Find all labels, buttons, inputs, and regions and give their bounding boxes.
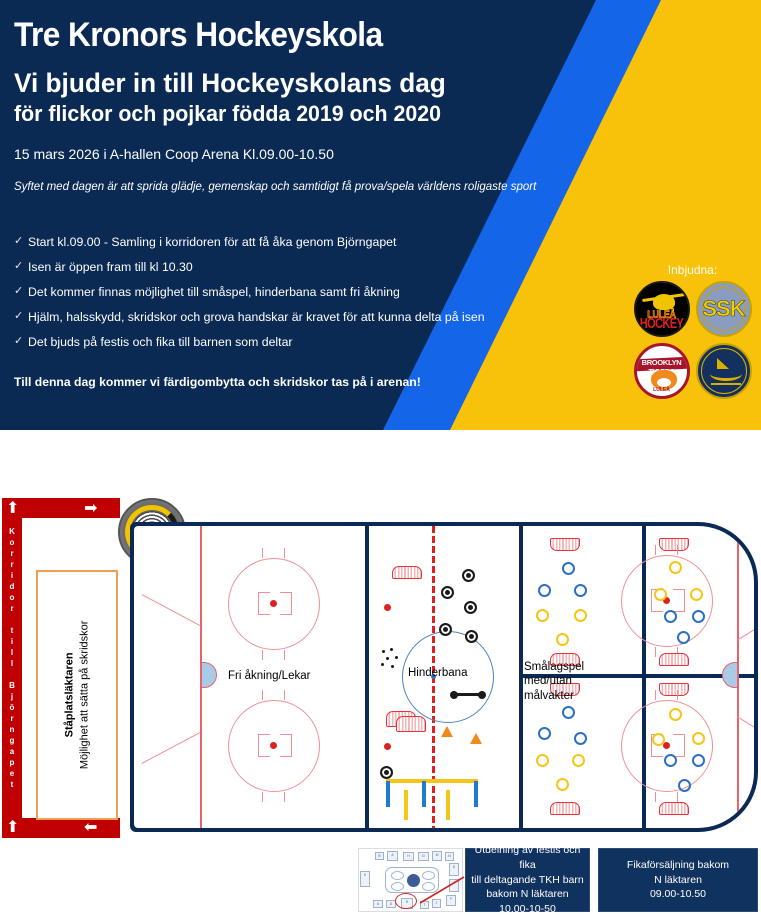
zone-label-smalagspel: Smålagspel med/utan målvakter — [524, 660, 584, 703]
hockey-net-icon — [659, 802, 689, 815]
player-marker — [572, 754, 585, 767]
ice-surface: Fri åkning/Lekar Hinderbana — [134, 526, 754, 828]
page-title: Tre Kronors Hockeyskola — [14, 18, 572, 52]
map-highlight-circle — [395, 893, 417, 909]
check-icon: ✓ — [14, 335, 28, 348]
map-section: N — [445, 852, 454, 861]
header-subtitle-1: Vi bjuder in till Hockeyskolans dag — [14, 69, 596, 99]
faceoff-hash — [258, 734, 270, 735]
player-marker — [574, 732, 587, 745]
info-line: Fikaförsäljning bakom — [627, 858, 729, 873]
map-section: A — [373, 900, 383, 908]
cone-icon — [441, 726, 453, 737]
hockey-net-icon — [550, 802, 580, 815]
player-marker — [692, 754, 705, 767]
faceoff-dot — [270, 742, 277, 749]
tigers-word-bottom: LULEÅ — [637, 387, 687, 393]
tiger-snout-icon — [657, 378, 671, 387]
player-marker — [538, 584, 551, 597]
player-marker — [562, 706, 575, 719]
faceoff-hash — [655, 545, 656, 555]
skate-area-subtitle: Möjlighet att sätta på skridskor — [77, 621, 92, 770]
check-icon: ✓ — [14, 260, 28, 273]
lulea-hockey-word-bottom: HOCKEY — [636, 316, 688, 332]
faceoff-hash — [284, 792, 285, 802]
faceoff-hash — [284, 650, 285, 660]
hurdle-leg-icon — [474, 781, 478, 807]
corridor-frame: Korridor till Björngapet ⬆ ➡ ⬆ ⬅ Ståplat… — [2, 498, 120, 838]
info-box-festis: Utdelning av festis och fika till deltag… — [465, 848, 590, 912]
map-section: B — [375, 852, 384, 860]
hockey-net-icon — [392, 566, 422, 579]
header-subtitle-2: för flickor och pojkar födda 2019 och 20… — [14, 101, 596, 126]
player-marker — [664, 754, 677, 767]
brooklyn-tigers-logo: BROOKLYN TIGERS LULEÅ — [634, 343, 690, 399]
list-item: ✓ Isen är öppen fram till kl 10.30 — [14, 260, 604, 274]
player-marker — [678, 779, 691, 792]
info-line: Utdelning av festis och fika — [466, 843, 589, 873]
info-line: bakom N läktaren — [466, 887, 589, 902]
faceoff-hash — [262, 650, 263, 660]
list-item-label: Det bjuds på festis och fika till barnen… — [28, 335, 293, 349]
list-item: ✓ Hjälm, halsskydd, skridskor och grova … — [14, 310, 604, 324]
header-banner: Tre Kronors Hockeyskola Vi bjuder in til… — [0, 0, 761, 430]
logo-grid: LULEÅ HOCKEY SSK BROOKLYN TIGERS LULEÅ — [630, 281, 755, 399]
tire-icon — [439, 623, 452, 636]
logo-base-icon — [711, 383, 741, 388]
check-icon: ✓ — [14, 310, 28, 323]
zone-divider — [365, 526, 369, 828]
player-marker — [690, 588, 703, 601]
zone-label-hinderbana: Hinderbana — [408, 666, 467, 680]
hockey-net-icon — [396, 716, 426, 732]
puck-scatter-dot — [386, 657, 389, 660]
hurdle-bar-icon — [386, 779, 478, 783]
faceoff-hash — [262, 690, 263, 700]
map-section: M — [432, 851, 442, 861]
sunderby-sk-logo: SSK — [696, 281, 752, 337]
faceoff-hash — [258, 592, 270, 593]
info-line: 09.00-10.50 — [627, 887, 729, 902]
cone-icon — [470, 733, 482, 744]
header-footnote: Till denna dag kommer vi färdigombytta o… — [14, 375, 421, 389]
faceoff-hash — [677, 545, 678, 555]
player-marker — [692, 732, 705, 745]
rink-corner-line — [141, 594, 200, 626]
faceoff-hash — [291, 592, 292, 615]
player-marker — [664, 610, 677, 623]
player-marker — [677, 631, 690, 644]
faceoff-dot — [663, 742, 670, 749]
list-item: ✓ Det kommer finnas möjlighet till småsp… — [14, 285, 604, 299]
rink-corner-line — [737, 716, 754, 729]
goal-crease — [201, 662, 217, 688]
faceoff-hash — [677, 690, 678, 700]
map-section: H — [403, 852, 414, 861]
arrow-up-icon: ⬆ — [6, 501, 19, 517]
faceoff-hash — [258, 614, 270, 615]
skate-area-text: Ståplatsläktaren Möjlighet att sätta på … — [62, 621, 92, 770]
list-item: ✓ Det bjuds på festis och fika till barn… — [14, 335, 604, 349]
faceoff-hash — [684, 734, 685, 757]
faceoff-hash — [651, 756, 663, 757]
hockey-net-icon — [550, 538, 580, 551]
check-icon: ✓ — [14, 235, 28, 248]
puck-scatter-dot — [381, 663, 384, 666]
list-item-label: Start kl.09.00 - Samling i korridoren fö… — [28, 235, 396, 249]
faceoff-hash — [284, 548, 285, 558]
rink-corner-line — [737, 628, 754, 641]
map-center-marker — [407, 874, 420, 887]
puck-scatter-dot — [391, 665, 394, 668]
lulea-hockey-logo: LULEÅ HOCKEY — [634, 281, 690, 337]
sunderby-monogram: SSK — [698, 283, 750, 335]
puck-scatter-dot — [395, 656, 398, 659]
rink-corner-line — [141, 732, 200, 764]
player-marker — [556, 633, 569, 646]
arrow-left-icon: ⬅ — [84, 820, 97, 836]
player-marker — [536, 754, 549, 767]
list-item-label: Hjälm, halsskydd, skridskor och grova ha… — [28, 310, 485, 324]
map-faceoff-circle — [391, 882, 404, 891]
puck-dot — [384, 604, 391, 611]
tire-icon — [380, 766, 393, 779]
player-marker — [536, 609, 549, 622]
check-icon: ✓ — [14, 285, 28, 298]
player-marker — [574, 584, 587, 597]
faceoff-hash — [262, 548, 263, 558]
skate-area-title: Ståplatsläktaren — [62, 621, 77, 770]
map-faceoff-circle — [391, 871, 404, 880]
faceoff-hash — [655, 690, 656, 700]
info-line: till deltagande TKH barn — [466, 873, 589, 888]
puck-dot — [384, 743, 391, 750]
map-section: G — [418, 852, 429, 861]
hockey-net-icon — [659, 653, 689, 666]
tire-icon — [462, 569, 475, 582]
zone-label-line: målvakter — [524, 689, 584, 703]
arrow-right-icon: ➡ — [84, 501, 97, 517]
faceoff-hash — [291, 734, 292, 757]
arrow-up-icon: ⬆ — [6, 820, 19, 836]
faceoff-hash — [284, 690, 285, 700]
faceoff-hash — [684, 589, 685, 612]
player-marker — [692, 610, 705, 623]
event-purpose: Syftet med dagen är att sprida glädje, g… — [14, 181, 614, 193]
ship-hull-icon — [710, 367, 742, 381]
player-marker — [574, 609, 587, 622]
player-marker — [562, 562, 575, 575]
skate-area-box: Ståplatsläktaren Möjlighet att sätta på … — [36, 570, 118, 820]
faceoff-hash — [258, 592, 259, 615]
puck-scatter-dot — [390, 648, 393, 651]
list-item: ✓ Start kl.09.00 - Samling i korridoren … — [14, 235, 604, 249]
ice-rink: Fri åkning/Lekar Hinderbana — [130, 522, 758, 832]
corridor-label: Korridor till Björngapet — [6, 526, 18, 826]
hurdle-leg-icon — [404, 790, 408, 820]
header-text-block: Tre Kronors Hockeyskola Vi bjuder in til… — [14, 18, 614, 193]
list-item-label: Det kommer finnas möjlighet till småspel… — [28, 285, 400, 299]
tire-icon — [464, 601, 477, 614]
zone-label-line: med/utan — [524, 674, 584, 688]
rink-diagram: Korridor till Björngapet ⬆ ➡ ⬆ ⬅ Ståplat… — [0, 490, 761, 850]
faceoff-dot — [270, 600, 277, 607]
player-marker — [652, 733, 665, 746]
map-section: K — [360, 871, 370, 887]
faceoff-hash — [677, 792, 678, 802]
faceoff-hash — [258, 756, 270, 757]
goal-crease — [722, 662, 738, 688]
map-section: A — [387, 851, 398, 861]
player-marker — [538, 727, 551, 740]
hurdle-leg-icon — [386, 781, 390, 807]
zone-label-fri-akning: Fri åkning/Lekar — [228, 669, 310, 683]
invited-label: Inbjudna: — [630, 263, 755, 277]
hurdle-leg-icon — [422, 781, 426, 807]
info-line: N läktaren — [627, 873, 729, 888]
tire-icon — [441, 586, 454, 599]
bullet-list: ✓ Start kl.09.00 - Samling i korridoren … — [14, 235, 604, 360]
player-marker — [669, 708, 682, 721]
faceoff-hash — [655, 792, 656, 802]
faceoff-hash — [258, 734, 259, 757]
faceoff-hash — [655, 647, 656, 657]
hurdle-leg-icon — [446, 790, 450, 820]
event-datetime: 15 mars 2026 i A-hallen Coop Arena Kl.09… — [14, 146, 614, 162]
bottom-info-strip: B A H G M N D I F J T H D A K Utdelning … — [0, 845, 761, 914]
player-marker — [669, 561, 682, 574]
faceoff-hash — [651, 611, 663, 612]
list-item-label: Isen är öppen fram till kl 10.30 — [28, 260, 193, 274]
puck-scatter-dot — [382, 650, 385, 653]
player-marker — [654, 588, 667, 601]
faceoff-hash — [651, 589, 652, 612]
info-line: 10.00-10-50 — [466, 902, 589, 917]
player-marker — [556, 778, 569, 791]
tire-icon — [465, 630, 478, 643]
info-box-fika: Fikaförsäljning bakom N läktaren 09.00-1… — [598, 848, 758, 912]
viking-ship-logo — [696, 343, 752, 399]
hockey-net-icon — [659, 683, 689, 696]
faceoff-hash — [262, 792, 263, 802]
invited-clubs-block: Inbjudna: LULEÅ HOCKEY SSK BROOKLYN TIGE… — [630, 263, 755, 399]
hockey-net-icon — [659, 538, 689, 551]
barbell-icon — [454, 693, 482, 696]
zone-label-line: Smålagspel — [524, 660, 584, 674]
